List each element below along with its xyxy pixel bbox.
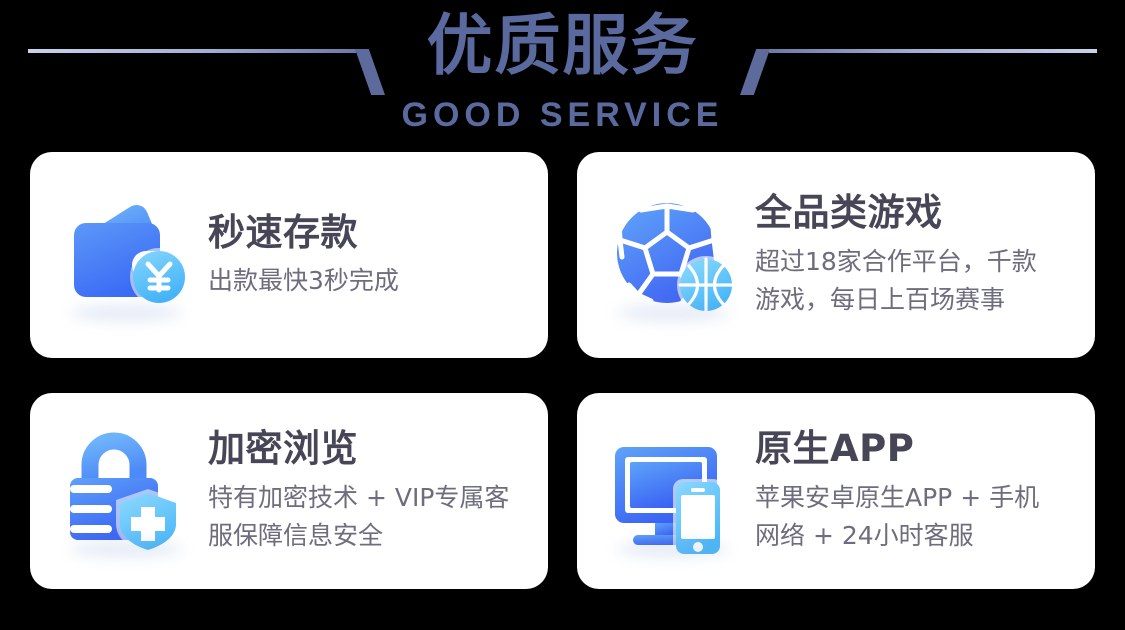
- card-title: 原生APP: [755, 427, 1085, 471]
- card-description: 超过18家合作平台，千款 游戏，每日上百场赛事: [755, 243, 1085, 319]
- card-text-block: 全品类游戏 超过18家合作平台，千款 游戏，每日上百场赛事: [745, 191, 1085, 319]
- card-title: 全品类游戏: [755, 191, 1085, 235]
- service-card-encryption[interactable]: 加密浏览 特有加密技术 + VIP专属客 服保障信息安全: [30, 393, 548, 589]
- card-description: 出款最快3秒完成: [208, 263, 538, 299]
- icon-shadow: [70, 305, 182, 321]
- page-title: 优质服务: [0, 6, 1125, 86]
- service-card-grid: 秒速存款 出款最快3秒完成: [30, 152, 1095, 589]
- card-description-line: 特有加密技术 + VIP专属客: [208, 479, 538, 517]
- icon-shadow: [617, 541, 729, 557]
- card-description-line: 苹果安卓原生APP + 手机: [755, 479, 1085, 517]
- service-card-games[interactable]: 全品类游戏 超过18家合作平台，千款 游戏，每日上百场赛事: [577, 152, 1095, 358]
- card-text-block: 原生APP 苹果安卓原生APP + 手机 网络 + 24小时客服: [745, 427, 1085, 555]
- soccer-basketball-icon: [605, 185, 745, 325]
- icon-shadow: [70, 541, 182, 557]
- lock-shield-icon: [58, 421, 198, 561]
- page-subtitle: GOOD SERVICE: [0, 95, 1125, 135]
- wallet-yen-icon: [58, 185, 198, 325]
- card-description-line: 游戏，每日上百场赛事: [755, 281, 1085, 319]
- icon-shadow: [617, 305, 729, 321]
- card-title: 加密浏览: [208, 427, 538, 471]
- card-text-block: 秒速存款 出款最快3秒完成: [198, 211, 538, 299]
- card-description-line: 服保障信息安全: [208, 517, 538, 555]
- card-description-line: 网络 + 24小时客服: [755, 517, 1085, 555]
- card-title: 秒速存款: [208, 211, 538, 255]
- card-description-line: 超过18家合作平台，千款: [755, 243, 1085, 281]
- card-description-line: 出款最快3秒完成: [208, 263, 538, 299]
- card-text-block: 加密浏览 特有加密技术 + VIP专属客 服保障信息安全: [198, 427, 538, 555]
- card-description: 苹果安卓原生APP + 手机 网络 + 24小时客服: [755, 479, 1085, 555]
- card-description: 特有加密技术 + VIP专属客 服保障信息安全: [208, 479, 538, 555]
- monitor-phone-icon: [605, 421, 745, 561]
- service-card-deposit[interactable]: 秒速存款 出款最快3秒完成: [30, 152, 548, 358]
- page-header: 优质服务 GOOD SERVICE: [0, 0, 1125, 140]
- header-rule-right: [769, 49, 1097, 53]
- service-card-native-app[interactable]: 原生APP 苹果安卓原生APP + 手机 网络 + 24小时客服: [577, 393, 1095, 589]
